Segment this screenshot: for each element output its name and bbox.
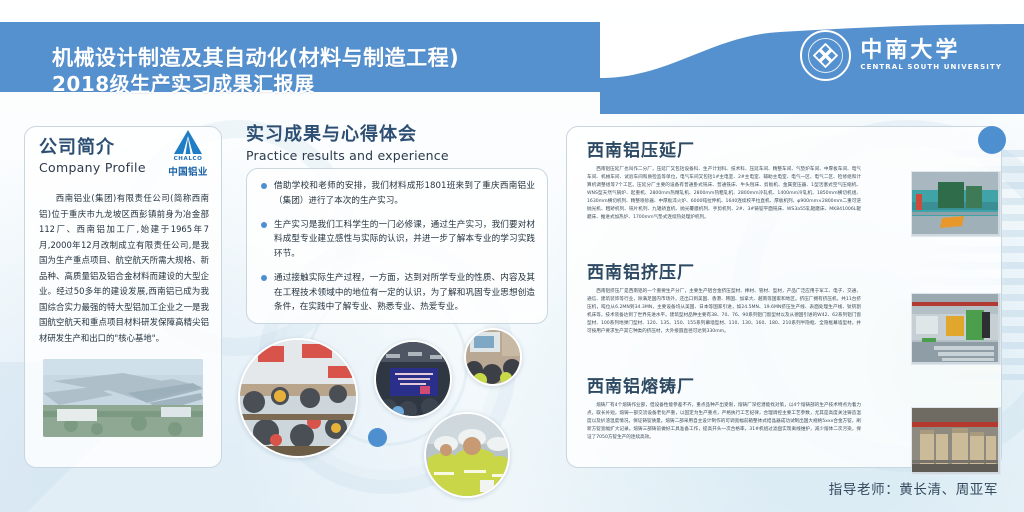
practice-heading-en: Practice results and experience [246, 148, 546, 163]
plant-title: 西南铝挤压厂 [587, 263, 979, 284]
page-title: 机械设计制造及其自动化(材料与制造工程) 2018级生产实习成果汇报展 [52, 46, 692, 96]
chalco-label-en: CHALCO [157, 156, 219, 162]
projector-audience-photo [464, 328, 522, 386]
university-logo: 中南大学 CENTRAL SOUTH UNIVERSITY [800, 30, 1002, 81]
plant-title: 西南铝熔铸厂 [587, 377, 979, 398]
extrusion-workshop-photo [911, 293, 1001, 365]
chalco-triangle-icon [173, 129, 203, 155]
title-line-1: 机械设计制造及其自动化(材料与制造工程) [52, 46, 692, 72]
supervising-teachers: 指导老师：黄长清、周亚军 [829, 478, 998, 498]
right-accent-dot [978, 126, 1006, 154]
plants-overview-card: 西南铝压延厂 西南铝压延厂也叫作二分厂，压延厂又包括设备科、生产计划科、技术科、… [566, 126, 1002, 468]
company-profile-card: 公司简介 Company Profile CHALCO 中国铝业 西南铝业(集团… [24, 126, 222, 468]
bullet-dot-icon [261, 275, 267, 281]
title-line-2: 2018级生产实习成果汇报展 [52, 72, 692, 96]
list-item: 通过接触实际生产过程，一方面，达到对所学专业的性质、内容及其在工程技术领域中的地… [261, 271, 535, 315]
plant-title: 西南铝压延厂 [587, 141, 979, 162]
header-accent-dot [728, 70, 758, 100]
poster-canvas: 机械设计制造及其自动化(材料与制造工程) 2018级生产实习成果汇报展 中南大学… [0, 0, 1024, 512]
bullet-dot-icon [261, 222, 267, 228]
classroom-lecture-photo [238, 338, 358, 458]
chalco-label-cn: 中国铝业 [157, 164, 219, 178]
practice-results-heading: 实习成果与心得体会 Practice results and experienc… [246, 124, 546, 163]
students-safety-vest-photo [424, 412, 510, 498]
chalco-logo: CHALCO 中国铝业 [157, 129, 219, 178]
practice-bullet-text: 生产实习是我们工科学生的一门必修课，通过生产实习，我们要对材料成型专业建立感性与… [274, 218, 535, 262]
company-profile-text: 西南铝业(集团)有限责任公司(简称西南铝)位于重庆市九龙坡区西彭镇前身为冶金部1… [39, 191, 209, 346]
casting-plant-photo [911, 407, 1001, 475]
practice-bullet-text: 通过接触实际生产过程，一方面，达到对所学专业的性质、内容及其在工程技术领域中的地… [274, 271, 535, 315]
page-header: 机械设计制造及其自动化(材料与制造工程) 2018级生产实习成果汇报展 中南大学… [0, 22, 1024, 92]
practice-bullet-text: 借助学校和老师的安排，我们材料成形1801班来到了重庆西南铝业（集团）进行了本次… [274, 179, 535, 209]
bullet-dot-icon [261, 183, 267, 189]
aerial-factory-photo [43, 359, 203, 437]
university-seal-icon [800, 30, 851, 81]
plant-body-text: 熔铸厂有4个熔铸作业部，但设备性能参差不齐，重点品种产出受限，熔铸厂深挖潜能找对… [587, 402, 861, 441]
collage-accent-dot [368, 428, 387, 447]
practice-bullet-list: 借助学校和老师的安排，我们材料成形1801班来到了重庆西南铝业（集团）进行了本次… [261, 179, 535, 324]
list-item: 生产实习是我们工科学生的一门必修课，通过生产实习，我们要对材料成型专业建立感性与… [261, 218, 535, 262]
university-name-en: CENTRAL SOUTH UNIVERSITY [860, 62, 1002, 73]
rolling-mill-photo [911, 171, 1001, 237]
practice-results-card: 借助学校和老师的安排，我们材料成形1801班来到了重庆西南铝业（集团）进行了本次… [246, 168, 548, 324]
list-item: 借助学校和老师的安排，我们材料成形1801班来到了重庆西南铝业（集团）进行了本次… [261, 179, 535, 209]
auditorium-presentation-photo [374, 340, 452, 418]
university-name-block: 中南大学 CENTRAL SOUTH UNIVERSITY [860, 38, 1002, 73]
plant-body-text: 西南铝压延厂也叫作二分厂，压延厂又包括设备科、生产计划科、技术科、压延车间、精整… [587, 166, 861, 221]
plant-body-text: 西南铝挤压厂是西南铝的一个重要生产分厂，主要生产铝合金挤压型材、棒材、管材、型材… [587, 288, 861, 335]
university-name-cn: 中南大学 [860, 38, 1002, 62]
practice-heading-cn: 实习成果与心得体会 [246, 124, 546, 146]
